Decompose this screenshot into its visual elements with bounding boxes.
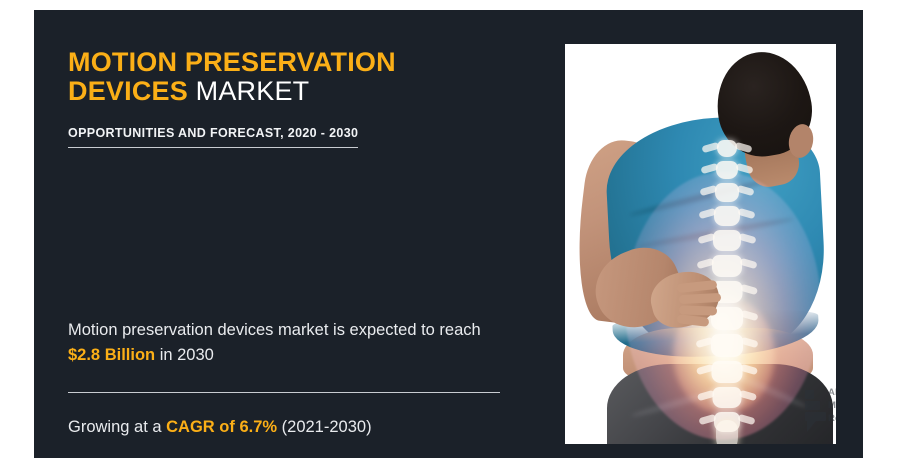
title-accent-1: MOTION PRESERVATION bbox=[68, 47, 396, 77]
infographic-card: MOTION PRESERVATION DEVICES MARKET OPPOR… bbox=[34, 10, 863, 458]
photo-panel: Allied Market Research bbox=[565, 44, 836, 444]
vertebra bbox=[715, 183, 739, 202]
vertebra bbox=[712, 361, 743, 383]
stat-market-size-prefix: Motion preservation devices market is ex… bbox=[68, 321, 481, 339]
stat-cagr-suffix: (2021-2030) bbox=[277, 418, 371, 436]
back-pain-photo: Allied Market Research bbox=[565, 44, 836, 444]
stat-block: Motion preservation devices market is ex… bbox=[68, 318, 514, 440]
vertebra bbox=[717, 140, 737, 157]
infographic-root: MOTION PRESERVATION DEVICES MARKET OPPOR… bbox=[0, 0, 898, 470]
stat-divider bbox=[68, 392, 500, 393]
stat-market-size: Motion preservation devices market is ex… bbox=[68, 318, 514, 368]
stat-market-size-value: $2.8 Billion bbox=[68, 346, 155, 364]
title-line-1: MOTION PRESERVATION bbox=[68, 48, 528, 77]
stat-market-size-suffix: in 2030 bbox=[155, 346, 214, 364]
title-block: MOTION PRESERVATION DEVICES MARKET bbox=[68, 48, 528, 106]
title-accent-2: DEVICES bbox=[68, 76, 188, 106]
vertebra bbox=[713, 230, 741, 251]
vertebra bbox=[713, 387, 742, 408]
title-line-2: DEVICES MARKET bbox=[68, 77, 528, 106]
vertebra bbox=[712, 255, 742, 277]
subtitle: OPPORTUNITIES AND FORECAST, 2020 - 2030 bbox=[68, 126, 358, 148]
vertebra bbox=[711, 334, 743, 357]
text-column: MOTION PRESERVATION DEVICES MARKET OPPOR… bbox=[68, 48, 538, 448]
stat-cagr: Growing at a CAGR of 6.7% (2021-2030) bbox=[68, 415, 514, 440]
vertebra bbox=[716, 161, 738, 179]
stat-cagr-prefix: Growing at a bbox=[68, 418, 166, 436]
sacrum bbox=[716, 420, 738, 444]
stat-cagr-value: CAGR of 6.7% bbox=[166, 418, 277, 436]
title-rest: MARKET bbox=[188, 76, 309, 106]
vertebra bbox=[714, 206, 740, 226]
